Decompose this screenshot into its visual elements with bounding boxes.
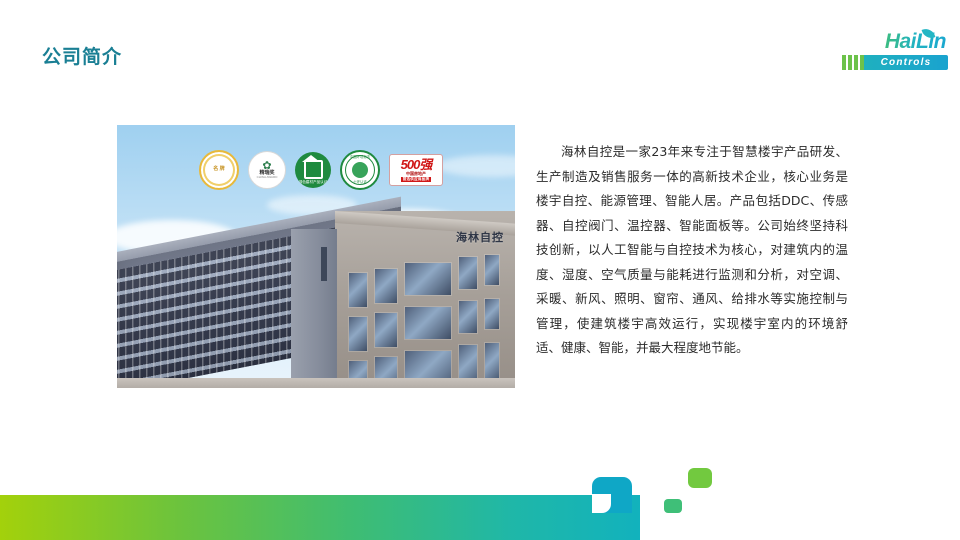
house-icon — [304, 160, 323, 179]
footer-accent-square-small — [664, 499, 682, 513]
slide-canvas: 公司简介 HaiLin Controls 名 牌 ✿ 精瑞奖 CHINA — [0, 0, 960, 540]
building-tower — [291, 229, 337, 388]
tower-slot — [321, 247, 327, 281]
top-500-badge-number: 500强 — [401, 157, 432, 172]
page-title: 公司简介 — [42, 42, 122, 69]
hailin-logo: HaiLin Controls — [836, 30, 948, 72]
footer-accent-square-large — [688, 468, 712, 488]
window — [349, 273, 367, 307]
window — [485, 299, 499, 329]
window — [485, 343, 499, 383]
top-500-badge: 500强 中国房地产 首选供应商品牌 — [389, 154, 443, 186]
footer-decoration — [0, 450, 960, 540]
logo-banner: Controls — [842, 55, 948, 70]
company-intro-paragraph: 海林自控是一家23年来专注于智慧楼宇产品研发、生产制造及销售服务一体的高新技术企… — [536, 140, 848, 361]
window — [485, 255, 499, 285]
company-building-photo: 名 牌 ✿ 精瑞奖 CHINA AWARD 绿色建材产品认证 中国环境标志 十环… — [117, 125, 515, 388]
green-building-product-badge-label: 绿色建材产品认证 — [295, 181, 331, 185]
environmental-seal-badge: 中国环境标志 十环认证 — [340, 150, 380, 190]
building-right-wing: 海林自控 — [335, 211, 515, 388]
ground-strip — [117, 378, 515, 388]
window — [459, 257, 477, 289]
certification-badges: 名 牌 ✿ 精瑞奖 CHINA AWARD 绿色建材产品认证 中国环境标志 十环… — [199, 151, 459, 189]
brand-certificate-badge: ✿ 精瑞奖 CHINA AWARD — [248, 151, 286, 189]
footer-gradient-bar — [0, 495, 640, 540]
gold-medal-badge-label: 名 牌 — [213, 167, 224, 172]
environmental-seal-badge-label: 中国环境标志 — [342, 156, 378, 160]
building-signage: 海林自控 — [456, 229, 504, 245]
logo-stripes-icon — [842, 55, 864, 70]
window — [405, 263, 451, 295]
window — [375, 269, 397, 303]
logo-subtitle: Controls — [864, 55, 948, 70]
environmental-seal-badge-sub: 十环认证 — [342, 181, 378, 185]
green-building-product-badge: 绿色建材产品认证 — [295, 152, 331, 188]
top-500-badge-sub: 中国房地产 — [401, 172, 432, 176]
window — [405, 307, 451, 339]
window — [375, 313, 397, 347]
window — [459, 301, 477, 333]
window — [349, 317, 367, 351]
top-500-badge-strip: 首选供应商品牌 — [401, 177, 432, 182]
brand-certificate-badge-sub: CHINA AWARD — [257, 176, 278, 179]
gold-medal-badge: 名 牌 — [199, 150, 239, 190]
footer-notch-cutout — [592, 494, 611, 513]
